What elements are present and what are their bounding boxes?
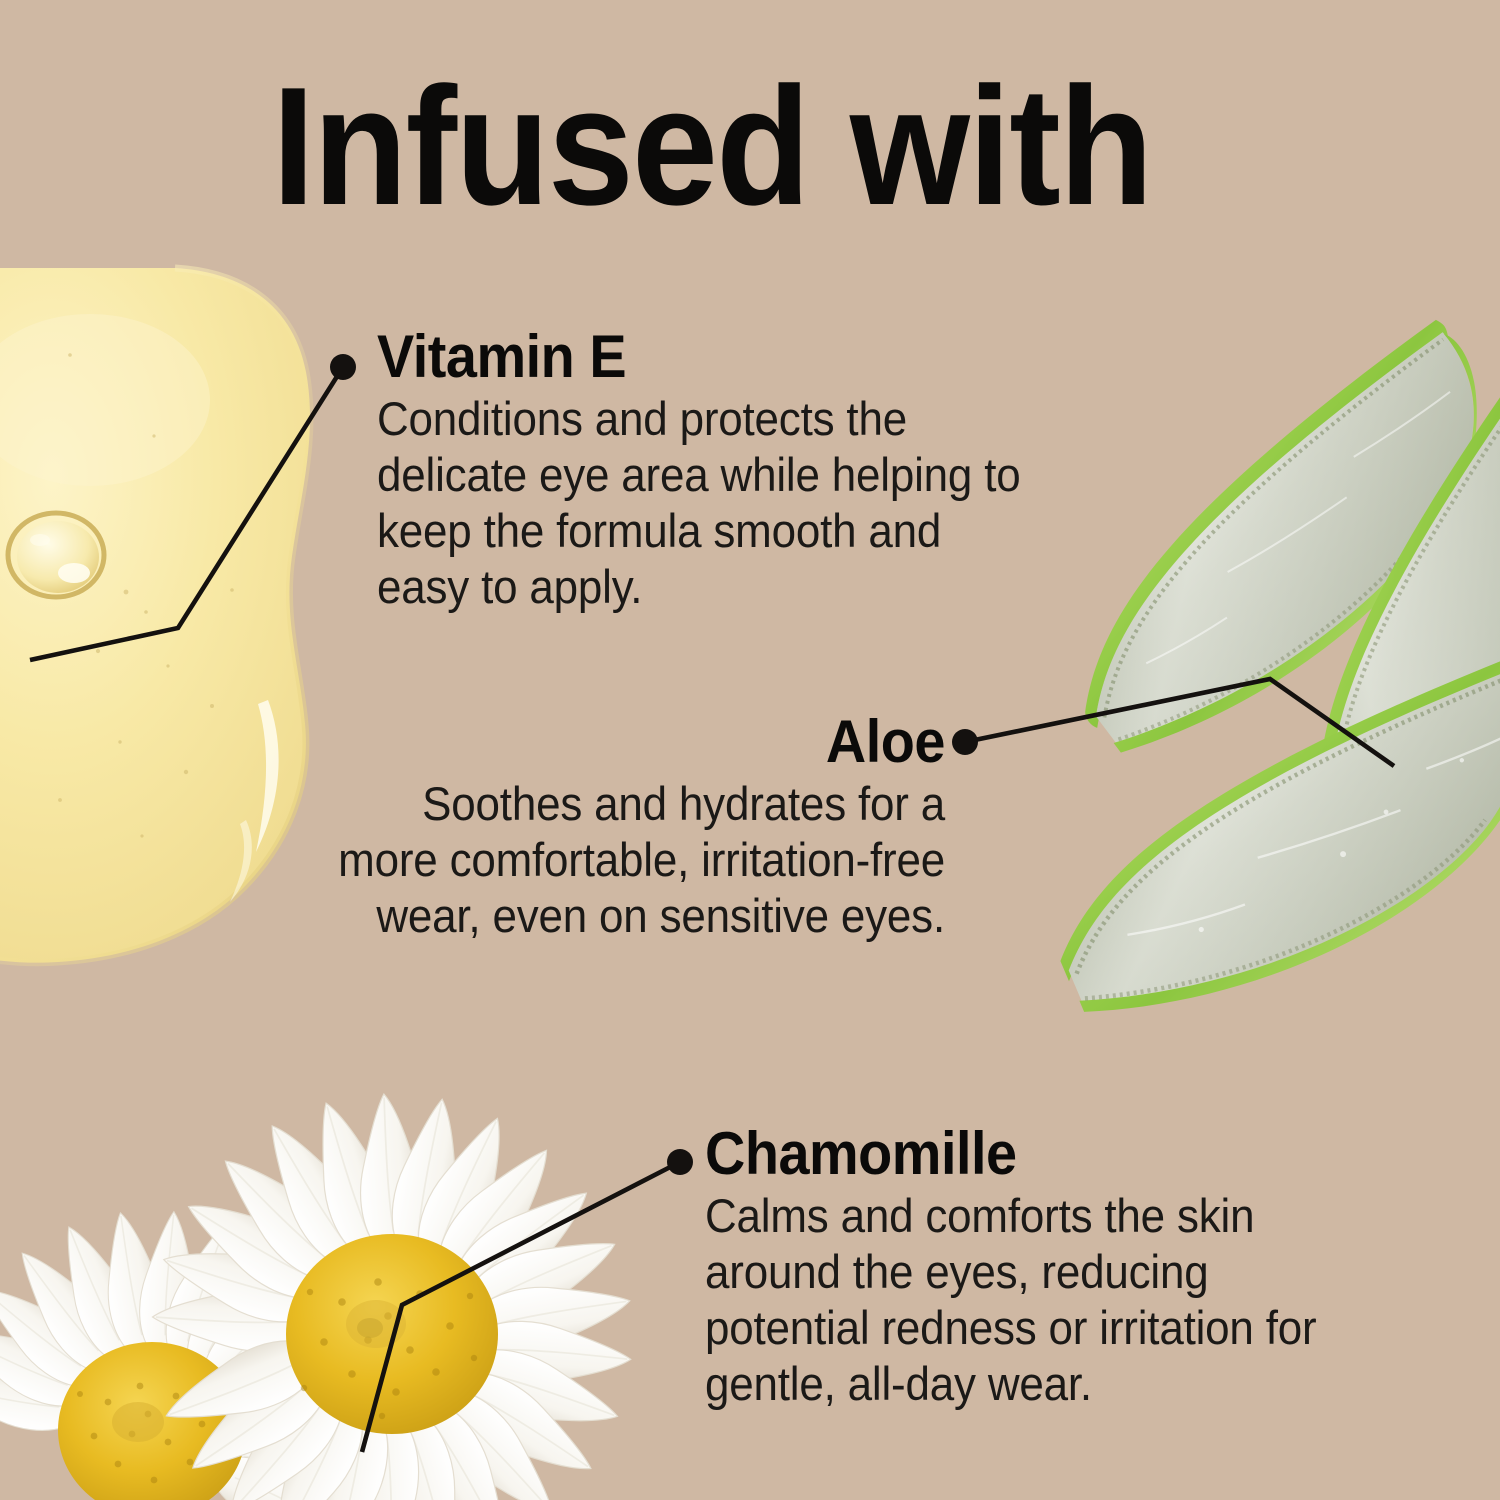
serum-drop-image xyxy=(0,268,310,963)
leader-dot-aloe xyxy=(952,729,978,755)
ingredient-description-vitamin-e: Conditions and protects the delicate eye… xyxy=(377,391,1032,615)
ingredient-description-aloe: Soothes and hydrates for a more comforta… xyxy=(328,776,945,944)
ingredient-callout-aloe: Aloe Soothes and hydrates for a more com… xyxy=(285,711,945,944)
leader-line-vitamin-e xyxy=(30,367,343,660)
leader-line-chamomille xyxy=(362,1162,680,1452)
ingredient-name-aloe: Aloe xyxy=(331,711,945,772)
leader-dot-chamomille xyxy=(667,1149,693,1175)
aloe-slices-image xyxy=(1020,316,1500,1050)
chamomile-flowers-image xyxy=(0,1092,635,1500)
page-title: Infused with xyxy=(272,62,1151,230)
leader-line-aloe xyxy=(965,679,1394,766)
ingredient-name-vitamin-e: Vitamin E xyxy=(377,326,1028,387)
leader-dot-vitamin-e xyxy=(330,354,356,380)
ingredient-callout-chamomille: Chamomille Calms and comforts the skin a… xyxy=(705,1123,1405,1412)
ingredient-name-chamomille: Chamomille xyxy=(705,1123,1356,1184)
ingredient-description-chamomille: Calms and comforts the skin around the e… xyxy=(705,1188,1360,1412)
ingredient-callout-vitamin-e: Vitamin E Conditions and protects the de… xyxy=(377,326,1077,615)
infographic-canvas: Infused with Vitamin E Conditions and pr… xyxy=(0,0,1500,1500)
